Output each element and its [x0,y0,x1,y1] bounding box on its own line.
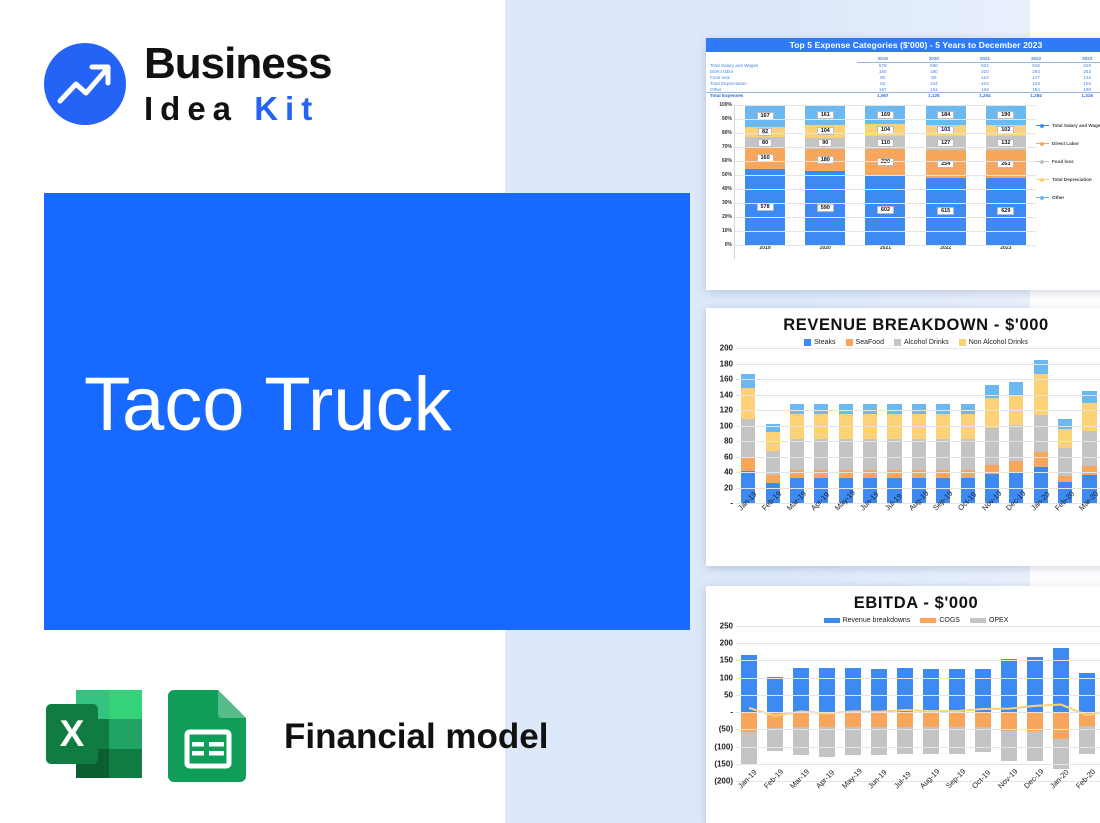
expense-table: 2019 2020 2021 2022 2023 Total Salary an… [706,55,1100,99]
gridline [736,426,1100,427]
chart-segment [1082,431,1096,466]
axis-tick-label: 200 [720,639,733,648]
axis-tick-label: 120 [720,406,733,415]
chart-column[interactable] [918,626,944,781]
axis-tick-label: 20% [722,214,732,220]
brand-name-line1: Business [144,42,332,86]
chart-column[interactable] [996,626,1022,781]
chart-segment [863,439,877,471]
axis-tick-label: 10% [722,228,732,234]
chart-column[interactable] [840,626,866,781]
svg-text:X: X [60,713,85,754]
legend-item[interactable]: Total Depreciation [1036,177,1100,182]
gridline [736,457,1100,458]
chart-column[interactable] [866,626,892,781]
legend-swatch [804,339,811,346]
chart-segment: 254 [926,150,966,178]
legend-item[interactable]: OPEX [970,617,1008,624]
gridline [735,133,1036,134]
chart-column[interactable] [1048,626,1074,781]
chart-segment [1034,360,1048,374]
revenue-chart-legend: SteaksSeaFoodAlcohol DrinksNon Alcohol D… [706,337,1100,348]
chart-segment [845,727,860,755]
data-label: 578 [757,203,774,211]
axis-tick-label: 90% [722,116,732,122]
axis-tick-label: 160 [720,375,733,384]
revenue-chart-body: 20018016014012010080604020- [706,348,1100,503]
legend-label: OPEX [989,617,1008,624]
chart-segment: 190 [986,105,1026,125]
chart-segment [839,404,853,414]
chart-segment [790,404,804,414]
chart-column[interactable] [1074,626,1100,781]
legend-label: Other [1052,195,1064,200]
data-label: 161 [817,111,834,119]
chart-segment: 590 [805,171,845,244]
gridline [735,147,1036,148]
chart-segment [897,668,912,712]
axis-tick-label: 40 [724,468,733,477]
table-header-cell: 2023 [1062,55,1100,63]
chart-segment: 169 [865,105,905,125]
data-label: 169 [877,111,894,119]
ebitda-chart-y-axis: 25020015010050-(50)(100)(150)(200) [706,626,736,781]
chart-segment [936,439,950,471]
chart-segment [814,404,828,414]
table-header-blank [706,55,857,63]
axis-tick-label: (50) [719,725,733,734]
chart-segment: 132 [986,136,1026,150]
chart-segment [985,398,999,427]
legend-swatch [920,618,936,623]
table-header-cell: 2020 [908,55,959,63]
gridline [736,626,1100,627]
data-label: 132 [997,139,1014,147]
ebitda-card[interactable]: EBITDA - $'000 Revenue breakdownsCOGSOPE… [706,586,1100,823]
chart-segment [871,669,886,712]
axis-tick-label: 100% [719,102,732,108]
footer-row: X Financial model [44,686,549,787]
chart-segment [1058,419,1072,428]
chart-segment [897,712,912,727]
axis-tick-label: - [730,708,733,717]
chart-segment [923,727,938,755]
legend-swatch [846,339,853,346]
legend-label: Non Alcohol Drinks [969,339,1028,346]
expense-table-title: Top 5 Expense Categories ($'000) - 5 Yea… [706,38,1100,52]
chart-column[interactable] [970,626,996,781]
legend-item[interactable]: Total Salary and Wages [1036,123,1100,128]
brand-logo: Business Idea Kit [44,42,332,125]
data-label: 80 [758,139,772,147]
table-header-cell: 2022 [1011,55,1062,63]
legend-label: COGS [939,617,960,624]
chart-segment: 184 [926,105,966,125]
legend-label: SeaFood [856,339,884,346]
axis-tick-label: 30% [722,200,732,206]
legend-item[interactable]: Food loss [1036,159,1100,164]
axis-tick-label: 200 [720,344,733,353]
chart-segment [1082,466,1096,475]
chart-segment [1034,415,1048,451]
chart-column[interactable] [944,626,970,781]
gridline [736,441,1100,442]
axis-tick-label: 2019 [745,245,785,259]
brand-name-line2: Idea Kit [144,92,332,125]
legend-item[interactable]: Steaks [804,339,835,346]
chart-segment: 103 [926,125,966,136]
chart-segment [975,712,990,727]
axis-tick-label: 250 [720,622,733,631]
google-sheets-icon [166,686,250,787]
gridline [736,695,1100,696]
legend-label: Revenue breakdowns [843,617,911,624]
ebitda-chart-title: EBITDA - $'000 [706,586,1100,615]
chart-segment: 615 [926,178,966,245]
chart-segment [793,727,808,755]
legend-label: Food loss [1052,159,1074,164]
ebitda-chart-plot [736,626,1100,781]
chart-segment [741,732,756,765]
table-header-row: 2019 2020 2021 2022 2023 [706,55,1100,63]
chart-segment [863,404,877,414]
axis-tick-label: 0% [725,242,732,248]
chart-segment [845,668,860,712]
ebitda-chart-x-axis: Jan-19Feb-19Mar-19Apr-19May-19Jun-19Jul-… [736,781,1100,821]
chart-segment [741,388,755,420]
axis-tick-label: 2023 [986,245,1026,259]
expense-stacked-chart: 100%90%80%70%60%50%40%30%20%10%0% 167828… [706,99,1100,259]
gridline [736,643,1100,644]
chart-segment [1079,673,1094,712]
chart-segment [1027,712,1042,731]
table-header-cell: 2021 [959,55,1010,63]
chart-segment [793,668,808,712]
chart-segment [741,655,756,712]
legend-swatch [959,339,966,346]
axis-tick-label: 60 [724,452,733,461]
legend-label: Total Depreciation [1052,177,1092,182]
growth-arrow-icon [44,43,126,125]
axis-tick-label: 60% [722,158,732,164]
legend-label: Direct Labor [1052,141,1079,146]
microsoft-excel-icon: X [44,686,144,787]
axis-tick-label: 70% [722,144,732,150]
legend-swatch [1036,197,1049,198]
axis-tick-label: 20 [724,483,733,492]
gridline [736,729,1100,730]
chart-segment: 220 [865,149,905,175]
chart-segment [912,439,926,471]
axis-tick-label: - [730,499,733,508]
revenue-chart-y-axis: 20018016014012010080604020- [706,348,736,503]
axis-tick-label: 100 [720,421,733,430]
legend-swatch [1036,179,1049,180]
axis-tick-label: 100 [720,673,733,682]
legend-swatch [824,618,840,623]
chart-segment [949,727,964,755]
chart-segment [1058,429,1072,448]
chart-segment [949,669,964,712]
legend-label: Alcohol Drinks [904,339,949,346]
gridline [736,379,1100,380]
chart-segment: 104 [805,125,845,138]
revenue-chart-x-axis: Jan-19Feb-19Mar-19Apr-19May-19Jun-19Jul-… [736,503,1100,543]
expense-categories-card[interactable]: Top 5 Expense Categories ($'000) - 5 Yea… [706,38,1100,290]
axis-tick-label: 2021 [865,245,905,259]
chart-segment [961,404,975,414]
revenue-chart-plot [736,348,1100,503]
chart-column[interactable] [736,626,762,781]
chart-segment [845,712,860,727]
data-label: 220 [877,158,894,166]
chart-segment [975,727,990,752]
chart-segment [1079,712,1094,726]
chart-segment [839,439,853,471]
chart-segment: 104 [865,124,905,136]
chart-segment [819,712,834,727]
chart-column[interactable] [788,626,814,781]
axis-tick-label: 50% [722,172,732,178]
chart-segment [767,712,782,728]
chart-segment [887,404,901,414]
chart-segment [985,428,999,465]
chart-segment: 127 [926,136,966,150]
gridline [736,472,1100,473]
chart-segment [897,727,912,755]
axis-tick-label: 2020 [805,245,845,259]
chart-segment [819,727,834,757]
chart-segment [949,712,964,727]
data-label: 615 [937,207,954,215]
chart-segment [1009,382,1023,395]
expense-chart-y-axis: 100%90%80%70%60%50%40%30%20%10%0% [710,105,734,259]
data-label: 190 [997,111,1014,119]
legend-swatch [970,618,986,623]
chart-segment: 263 [986,150,1026,178]
gridline [735,175,1036,176]
gridline [736,364,1100,365]
gridline [735,105,1036,106]
legend-item[interactable]: Alcohol Drinks [894,339,949,346]
chart-segment: 602 [865,175,905,245]
ebitda-chart-body: 25020015010050-(50)(100)(150)(200) [706,626,1100,781]
legend-label: Steaks [814,339,835,346]
chart-segment [741,458,755,471]
chart-column[interactable] [814,626,840,781]
chart-segment [1001,712,1016,731]
legend-swatch [1036,125,1049,126]
legend-item[interactable]: Other [1036,195,1100,200]
expense-chart-legend: Total Salary and WagesDirect LaborFood l… [1036,105,1100,259]
chart-column[interactable] [892,626,918,781]
chart-segment [793,712,808,727]
axis-tick-label: 50 [724,690,733,699]
chart-segment [1001,659,1016,712]
chart-segment [1027,657,1042,712]
legend-swatch [894,339,901,346]
gridline [735,231,1036,232]
gridline [735,217,1036,218]
data-label: 110 [877,139,894,147]
chart-segment [975,669,990,712]
expense-chart-plot: 1678280160578161104901805901691041102206… [734,105,1036,259]
axis-tick-label: 150 [720,656,733,665]
gridline [736,410,1100,411]
gridline [736,348,1100,349]
chart-segment: 578 [745,169,785,245]
chart-segment [923,712,938,727]
chart-segment [961,439,975,471]
chart-segment [871,712,886,727]
axis-tick-label: 180 [720,359,733,368]
revenue-breakdown-card[interactable]: REVENUE BREAKDOWN - $'000 SteaksSeaFoodA… [706,308,1100,566]
data-label: 104 [817,127,834,135]
data-label: 184 [937,111,954,119]
legend-label: Total Salary and Wages [1052,123,1100,128]
gridline [736,660,1100,661]
chart-segment [912,404,926,414]
axis-tick-label: 80% [722,130,732,136]
legend-item[interactable]: SeaFood [846,339,884,346]
chart-segment: 167 [745,105,785,127]
chart-segment [819,668,834,712]
legend-item[interactable]: Non Alcohol Drinks [959,339,1028,346]
chart-column[interactable] [762,626,788,781]
axis-tick-label: 40% [722,186,732,192]
chart-segment [1009,461,1023,472]
brand-idea-text: Idea [144,90,254,127]
brand-kit-text: Kit [254,90,319,127]
axis-tick-label: 140 [720,390,733,399]
axis-tick-label: 2022 [926,245,966,259]
legend-item[interactable]: Revenue breakdowns [824,617,911,624]
chart-segment: 160 [745,148,785,169]
gridline [735,119,1036,120]
chart-segment [871,727,886,755]
chart-segment [814,439,828,471]
table-header-cell: 2019 [857,55,908,63]
axis-tick-label: (100) [714,742,733,751]
legend-item[interactable]: COGS [920,617,960,624]
axis-tick-label: 80 [724,437,733,446]
gridline [735,203,1036,204]
page-title: Taco Truck [84,361,451,448]
chart-segment: 161 [805,105,845,125]
gridline [735,161,1036,162]
legend-swatch [1036,161,1049,162]
axis-tick-label: (150) [714,759,733,768]
chart-segment [1082,391,1096,403]
gridline [736,747,1100,748]
chart-segment [936,404,950,414]
legend-item[interactable]: Direct Labor [1036,141,1100,146]
chart-column[interactable] [1022,626,1048,781]
gridline [735,189,1036,190]
chart-segment [1034,452,1048,468]
gridline [736,678,1100,679]
chart-segment [741,374,755,387]
data-label: 602 [877,206,894,214]
chart-segment [1053,648,1068,712]
legend-swatch [1036,143,1049,144]
chart-segment [1053,712,1068,739]
ebitda-chart-legend: Revenue breakdownsCOGSOPEX [706,615,1100,626]
data-label: 590 [817,204,834,212]
gridline [736,764,1100,765]
expense-chart-x-axis: 20192020202120222023 [735,245,1036,259]
chart-segment [790,439,804,471]
chart-segment [887,439,901,471]
chart-segment [1082,403,1096,431]
chart-segment: 102 [986,125,1026,136]
gridline [736,395,1100,396]
data-label: 629 [997,207,1014,215]
gridline [736,712,1100,713]
hero-banner: Taco Truck [44,193,690,630]
axis-tick-label: (200) [714,777,733,786]
gridline [735,245,1036,246]
chart-segment [985,385,999,398]
revenue-chart-title: REVENUE BREAKDOWN - $'000 [706,308,1100,337]
chart-segment [766,475,780,483]
chart-segment [923,669,938,712]
footer-label: Financial model [284,717,549,757]
